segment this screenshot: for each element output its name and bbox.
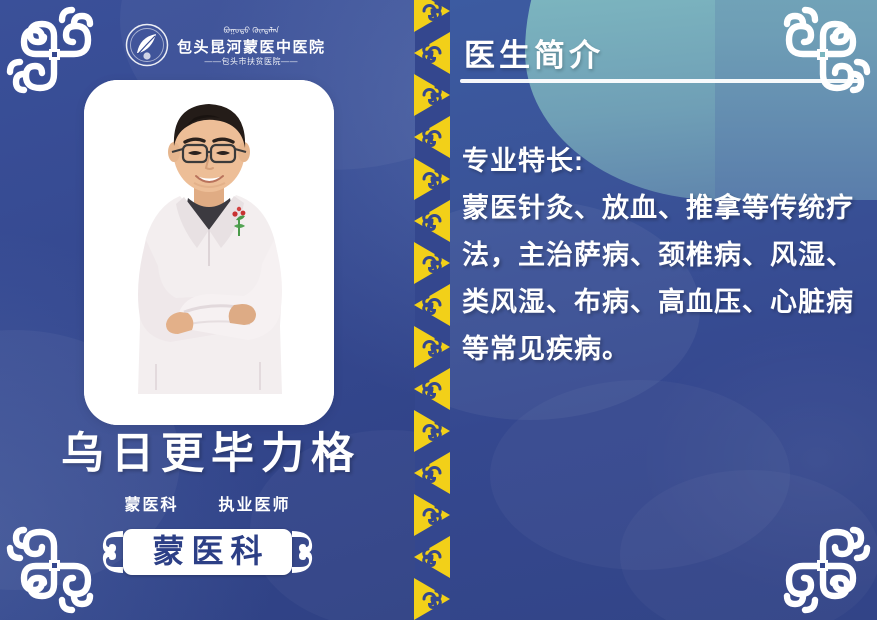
hospital-subtitle: ——包头市扶贫医院—— [205, 58, 299, 66]
doctor-portrait-image [84, 80, 334, 425]
gold-zigzag-divider [411, 0, 453, 620]
department-badge-plate: 蒙医科 [123, 529, 291, 576]
mongolian-script-text: ᠪᠤᠭᠤᠲᠤ ᠬᠦᠨᠳᠡᠯᠡᠨ [223, 25, 279, 37]
hospital-leaf-emblem-icon [125, 23, 169, 67]
hospital-logo: ᠪᠤᠭᠤᠲᠤ ᠬᠦᠨᠳᠡᠯᠡᠨ 包头昆河蒙医中医院 ——包头市扶贫医院—— [125, 18, 345, 72]
decorative-wave [620, 470, 877, 620]
doctor-credentials: 蒙医科 执业医师 [0, 491, 415, 515]
title-underline [460, 79, 860, 83]
gold-zigzag-spiral-band-icon [411, 0, 453, 620]
doctor-profile-poster: 医生简介 专业特长: 蒙医针灸、放血、推拿等传统疗法，主治萨病、颈椎病、风湿、类… [0, 0, 877, 620]
department-badge: 蒙医科 [0, 527, 415, 577]
hospital-name: 包头昆河蒙医中医院 [177, 40, 326, 55]
doctor-department: 蒙医科 [124, 491, 178, 515]
doctor-title: 执业医师 [219, 491, 291, 515]
hospital-logo-text: ᠪᠤᠭᠤᠲᠤ ᠬᠦᠨᠳᠡᠯᠡᠨ 包头昆河蒙医中医院 ——包头市扶贫医院—— [177, 25, 326, 66]
doctor-name: 乌日更毕力格 [0, 432, 415, 477]
doctor-name-block: 乌日更毕力格 蒙医科 执业医师 [0, 432, 415, 515]
page-title: 医生简介 [464, 30, 604, 75]
doctor-photo-card [84, 80, 334, 425]
cloud-scroll-icon [288, 527, 322, 577]
department-badge-label: 蒙医科 [145, 533, 269, 570]
decorative-wave [490, 380, 790, 570]
specialty-text: 蒙医针灸、放血、推拿等传统疗法，主治萨病、颈椎病、风湿、类风湿、布病、高血压、心… [462, 185, 867, 373]
right-panel: 医生简介 专业特长: 蒙医针灸、放血、推拿等传统疗法，主治萨病、颈椎病、风湿、类… [450, 0, 877, 620]
specialty-label: 专业特长: [462, 138, 867, 185]
cloud-scroll-icon [93, 527, 127, 577]
profile-body: 专业特长: 蒙医针灸、放血、推拿等传统疗法，主治萨病、颈椎病、风湿、类风湿、布病… [462, 138, 867, 373]
